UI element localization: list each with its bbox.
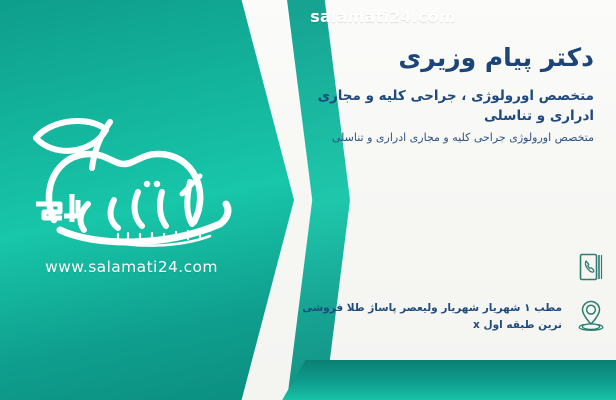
- doctor-name: دکتر پیام وزیری: [272, 42, 594, 73]
- location-pin-icon: [572, 294, 610, 336]
- contact-block: مطب ۱ شهریار شهریار ولیعصر پاساژ طلا فرو…: [286, 246, 610, 342]
- phone-value: [286, 246, 562, 282]
- phone-book-icon: [572, 246, 610, 288]
- salamati24-logo: www.salamati24.com: [14, 108, 249, 278]
- footer-site-text: salamati24.com: [0, 7, 616, 26]
- specialty-description: متخصص اورولوژی جراحی کلیه و مجاری ادراری…: [272, 129, 594, 146]
- logo-url-text: www.salamati24.com: [14, 258, 249, 276]
- address-value: مطب ۱ شهریار شهریار ولیعصر پاساژ طلا فرو…: [286, 294, 562, 334]
- apple-outline-icon: [14, 108, 249, 258]
- specialty-headline: متخصص اورولوژی ، جراحی کلیه و مجاری ادرا…: [272, 87, 594, 126]
- address-row: مطب ۱ شهریار شهریار ولیعصر پاساژ طلا فرو…: [286, 294, 610, 336]
- phone-row: [286, 246, 610, 288]
- business-card: www.salamati24.com دکتر پیام وزیری متخصص…: [0, 0, 616, 400]
